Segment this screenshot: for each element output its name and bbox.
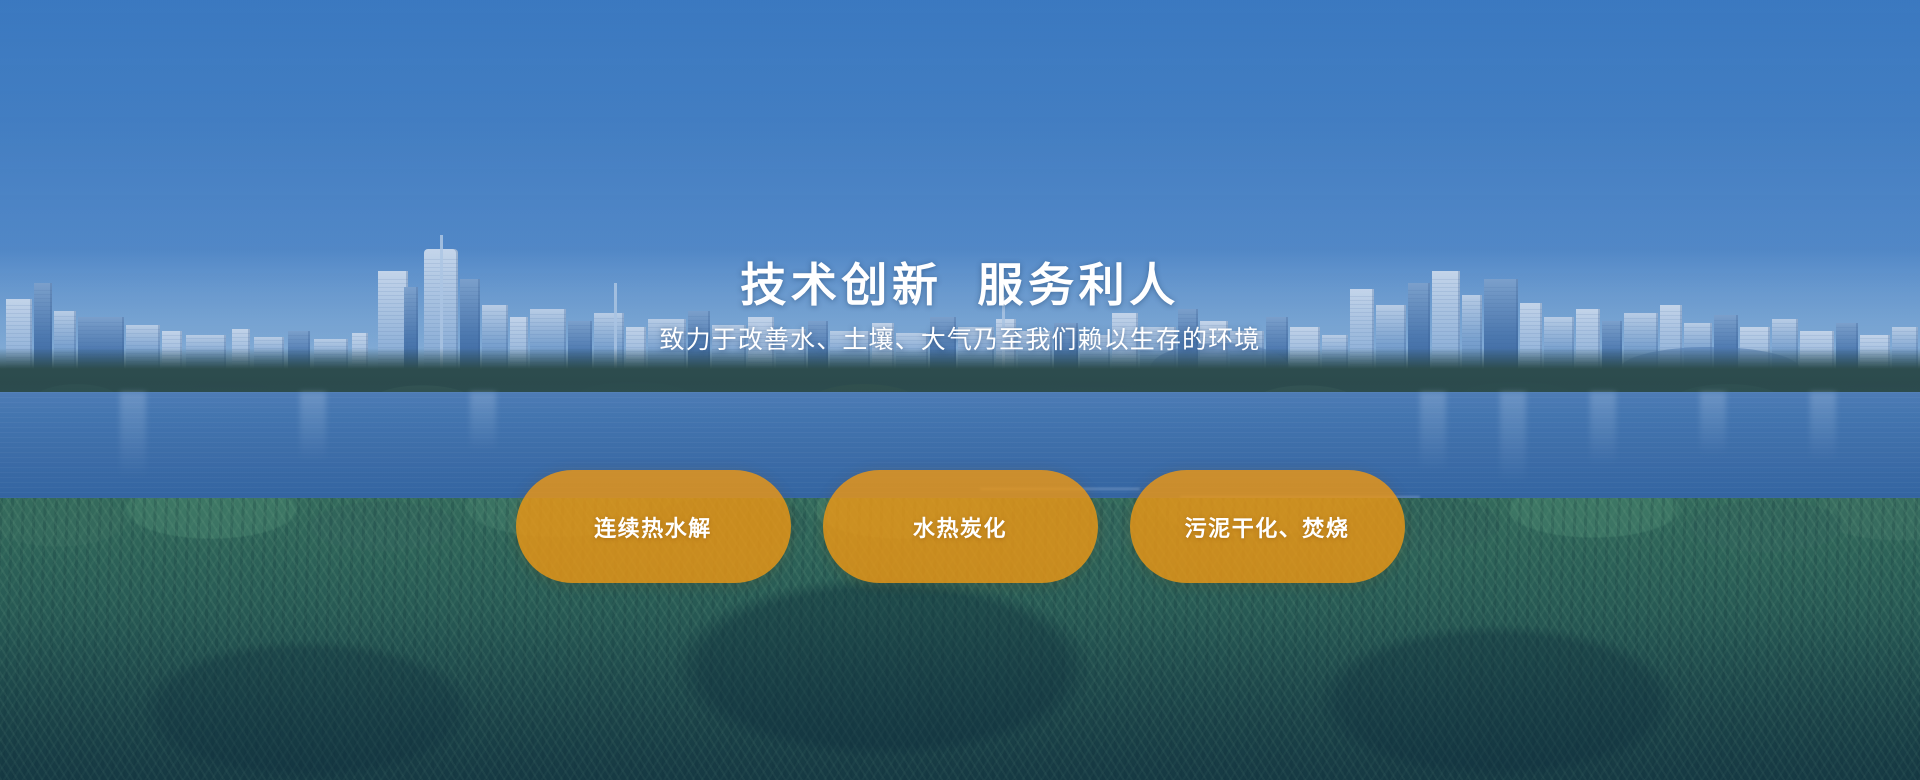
page-subtitle: 致力于改善水、土壤、大气乃至我们赖以生存的环境 [660,328,1261,353]
hero-banner: 技术创新 服务利人 致力于改善水、土壤、大气乃至我们赖以生存的环境 连续热水解 … [0,0,1920,780]
service-button-label: 水热炭化 [913,511,1007,543]
service-button-group: 连续热水解 水热炭化 污泥干化、焚烧 [0,470,1920,583]
service-button-label: 连续热水解 [594,511,712,543]
service-button-sludge-drying-incineration[interactable]: 污泥干化、焚烧 [1130,470,1405,583]
service-button-label: 污泥干化、焚烧 [1185,511,1350,543]
service-button-hydrothermal-carbonization[interactable]: 水热炭化 [823,470,1098,583]
page-title: 技术创新 服务利人 [740,262,1180,308]
service-button-continuous-thermal-hydrolysis[interactable]: 连续热水解 [516,470,791,583]
hero-content: 技术创新 服务利人 致力于改善水、土壤、大气乃至我们赖以生存的环境 [0,0,1920,780]
